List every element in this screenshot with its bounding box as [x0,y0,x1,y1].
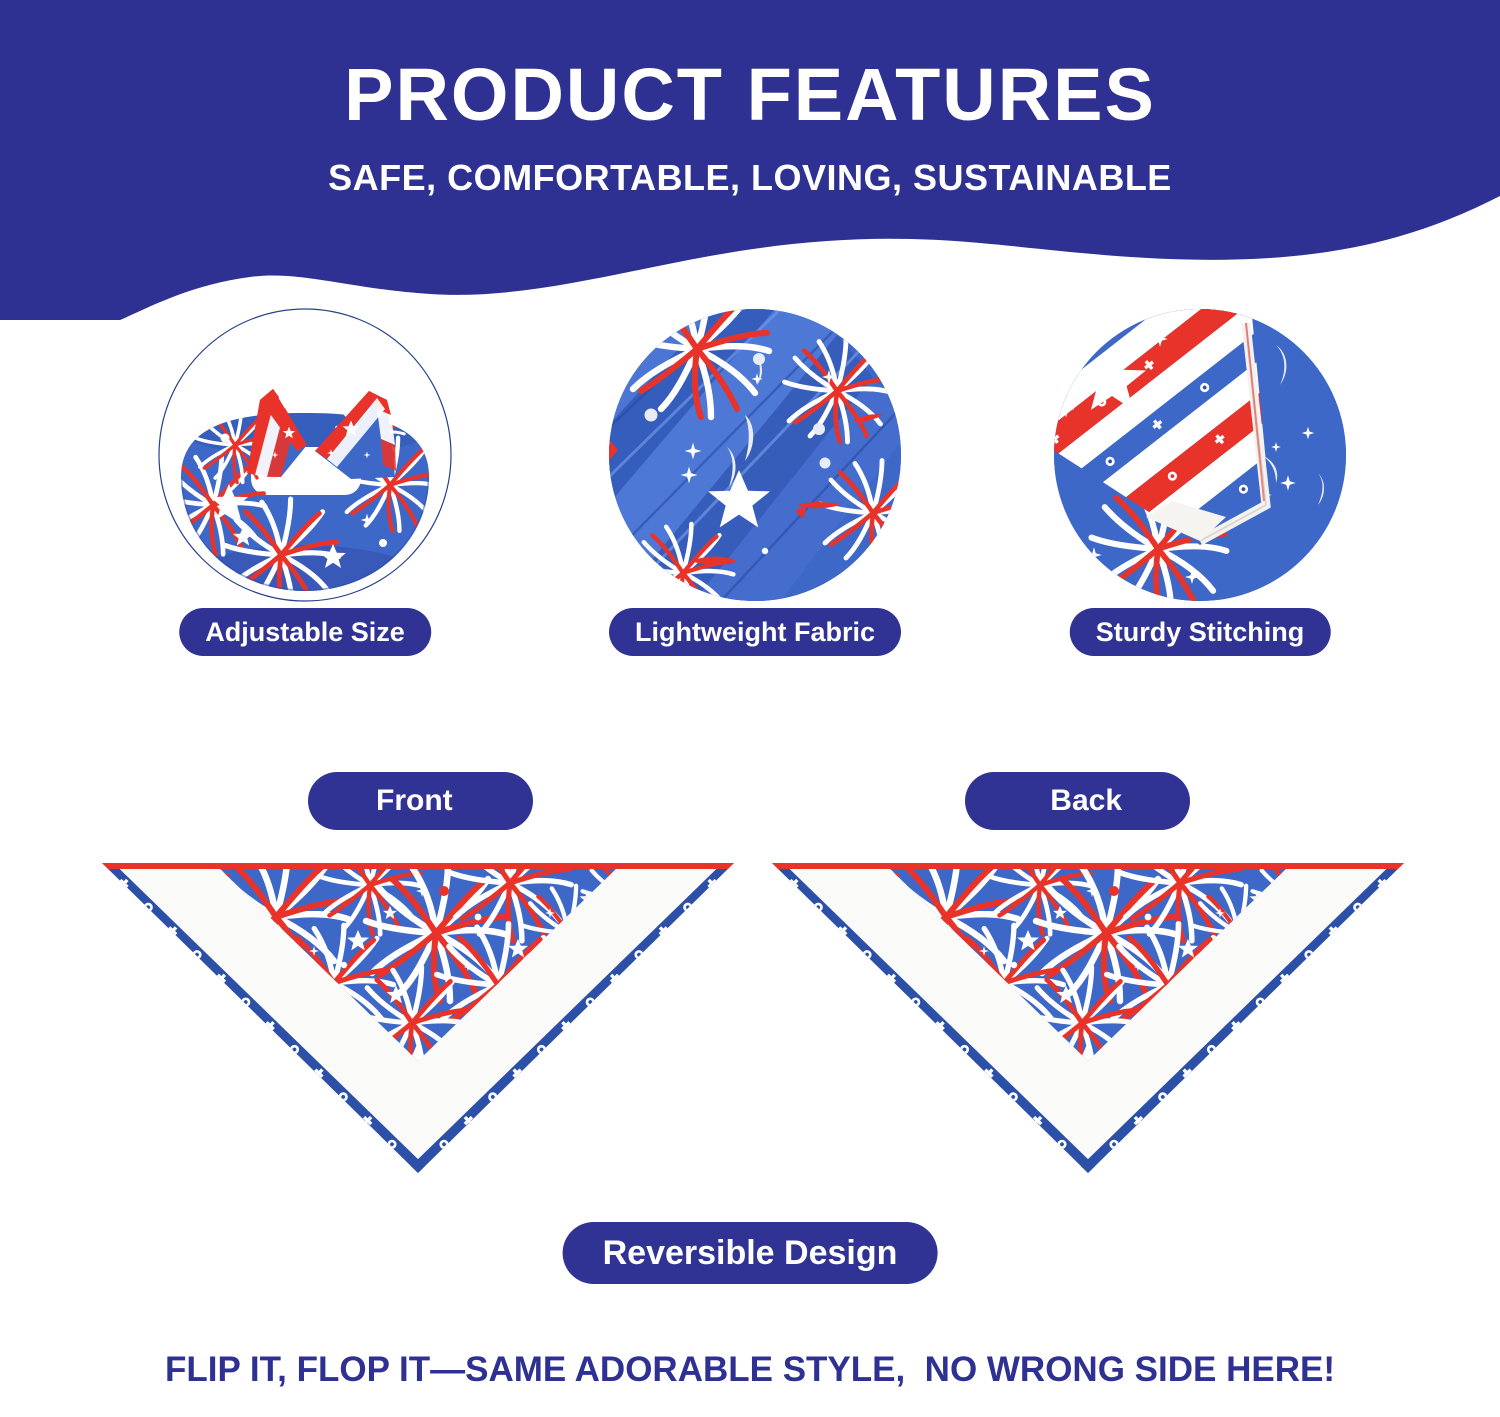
bandana-back-image [768,855,1408,1175]
feature-card-adjustable-size: Adjustable Size [140,300,470,670]
feature-label-sturdy-stitching: Sturdy Stitching [1070,608,1331,656]
back-label: Back [965,772,1190,830]
feature-label-adjustable-size: Adjustable Size [179,608,431,656]
feature-card-lightweight-fabric: Lightweight Fabric [590,300,920,670]
bandana-front-image [98,855,738,1175]
front-label: Front [308,772,533,830]
feature-image-sturdy-stitching [1050,305,1350,605]
front-back-section: Front Back [0,760,1500,1200]
reversible-design-label: Reversible Design [563,1222,938,1284]
tagline-text: FLIP IT, FLOP IT—SAME ADORABLE STYLE, NO… [0,1352,1500,1387]
feature-image-adjustable-size [155,305,455,605]
page-title: PRODUCT FEATURES [0,58,1500,132]
feature-row: Adjustable Size [0,300,1500,670]
header-banner: PRODUCT FEATURES SAFE, COMFORTABLE, LOVI… [0,0,1500,320]
feature-image-lightweight-fabric [605,305,905,605]
product-features-infographic: PRODUCT FEATURES SAFE, COMFORTABLE, LOVI… [0,0,1500,1417]
page-subtitle: SAFE, COMFORTABLE, LOVING, SUSTAINABLE [0,160,1500,196]
feature-card-sturdy-stitching: Sturdy Stitching [1035,300,1365,670]
feature-label-lightweight-fabric: Lightweight Fabric [609,608,901,656]
